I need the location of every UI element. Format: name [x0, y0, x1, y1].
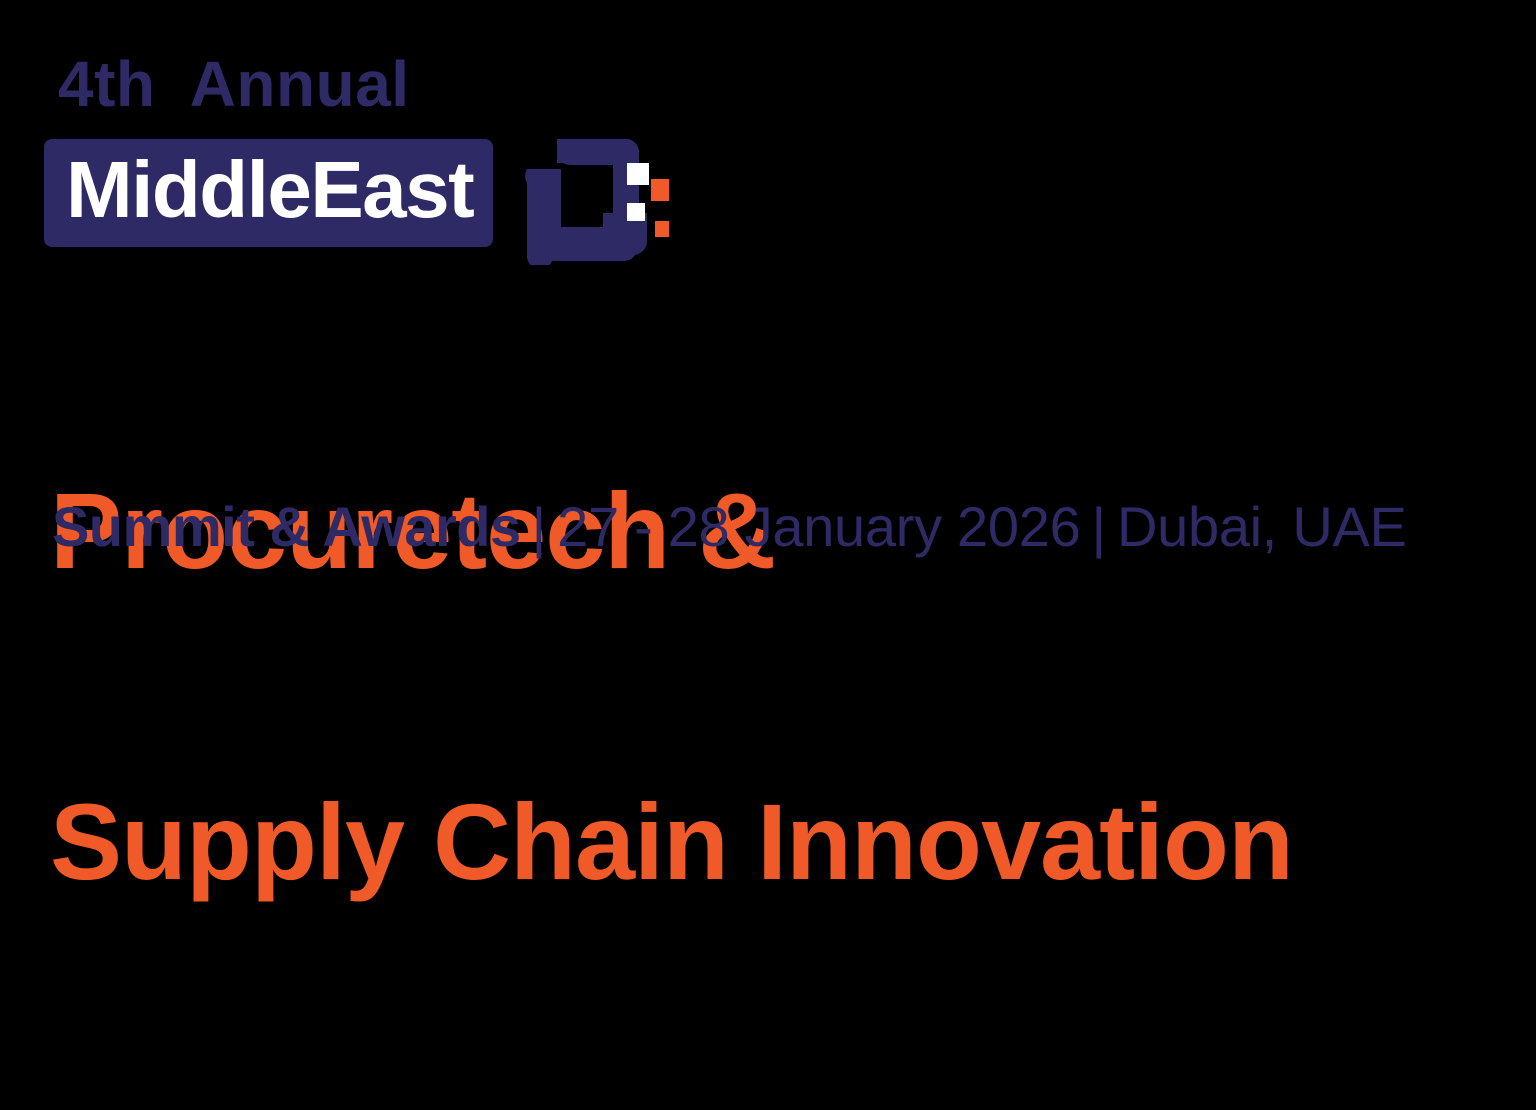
region-badge-row: MiddleEast — [44, 139, 669, 247]
notch-square-upper — [627, 163, 649, 185]
event-dates-label: 27 - 28 January 2026 — [557, 497, 1080, 557]
region-badge-label: MiddleEast — [66, 150, 473, 230]
region-badge: MiddleEast — [44, 139, 493, 247]
headline-line-2: Supply Chain Innovation — [50, 790, 1293, 894]
event-details-line: Summit & Awards | 27 - 28 January 2026 |… — [52, 497, 1407, 557]
detail-separator-1: | — [521, 498, 558, 558]
edition-eyebrow: 4th Annual — [58, 52, 410, 116]
accent-square-upper — [651, 179, 669, 201]
accent-square-lower — [655, 221, 669, 237]
event-location-label: Dubai, UAE — [1117, 497, 1407, 557]
layered-bracket-logo-icon — [509, 125, 669, 265]
detail-separator-2: | — [1080, 498, 1117, 558]
event-logo-lockup: 4th Annual MiddleEast — [0, 0, 1536, 619]
page-title: Procuretech & Supply Chain Innovation — [50, 272, 1293, 1101]
notch-square-lower — [627, 203, 645, 221]
layered-bracket-logo-icon-svg — [509, 125, 669, 265]
event-type-label: Summit & Awards — [52, 497, 521, 557]
